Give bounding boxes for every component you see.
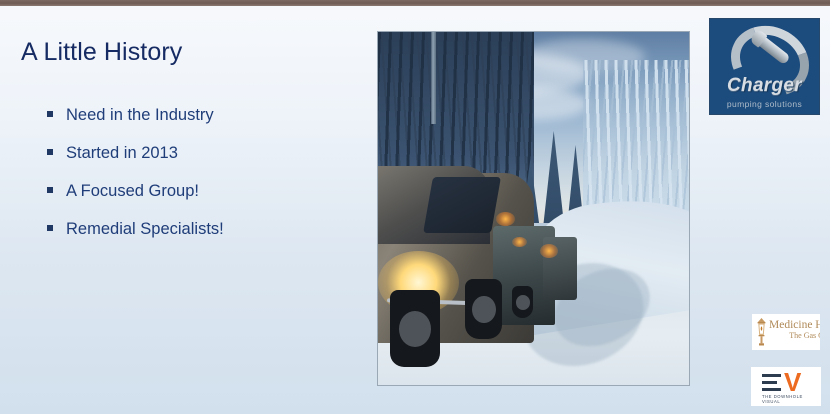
ev-chevron-mark: V (784, 373, 802, 392)
ev-tagline-line1: THE DOWNHOLE VISUAL (762, 394, 818, 405)
medicine-hat-logo: Medicine Hat The Gas City (752, 314, 820, 350)
charger-tagline: pumping solutions (710, 99, 819, 109)
presentation-slide: A Little History Need in the Industry St… (0, 0, 830, 414)
front-wheel (390, 290, 440, 368)
charger-logo: Charger pumping solutions (709, 18, 820, 115)
list-item: A Focused Group! (47, 182, 367, 220)
photo-canvas (378, 32, 689, 385)
bullet-item-label: Remedial Specialists! (66, 220, 224, 239)
gas-lamp-icon (756, 318, 767, 346)
square-bullet-icon (47, 111, 53, 117)
medicine-hat-name: Medicine Hat (769, 320, 820, 331)
square-bullet-icon (47, 187, 53, 193)
ev-bar-icon (762, 374, 781, 377)
bullet-item-label: Need in the Industry (66, 106, 214, 125)
winter-convoy-photo (377, 31, 690, 386)
ev-bar-icon (762, 381, 777, 384)
ev-bar-icon (762, 388, 781, 391)
utility-pole (431, 32, 436, 124)
ev-tagline-line2: ANALYTICS COMPANY (762, 405, 818, 406)
ev-logo: V THE DOWNHOLE VISUAL ANALYTICS COMPANY (751, 367, 821, 406)
medicine-hat-text: Medicine Hat The Gas City (769, 320, 820, 341)
list-item: Need in the Industry (47, 106, 367, 144)
amber-marker-light-icon (496, 212, 515, 226)
charger-wordmark: Charger (710, 75, 819, 97)
square-bullet-icon (47, 225, 53, 231)
rear-wheel (465, 279, 502, 339)
bullet-item-label: A Focused Group! (66, 182, 199, 201)
second-truck-wheel (512, 286, 534, 318)
amber-marker-light-icon (540, 244, 559, 258)
medicine-hat-tagline: The Gas City (769, 331, 820, 341)
slide-title: A Little History (21, 38, 182, 67)
top-accent-bar (0, 0, 830, 6)
ev-tagline: THE DOWNHOLE VISUAL ANALYTICS COMPANY (762, 394, 818, 406)
square-bullet-icon (47, 149, 53, 155)
bullet-item-label: Started in 2013 (66, 144, 178, 163)
bullet-list: Need in the Industry Started in 2013 A F… (47, 106, 367, 258)
list-item: Remedial Specialists! (47, 220, 367, 258)
list-item: Started in 2013 (47, 144, 367, 182)
lead-truck-windshield (423, 177, 501, 233)
